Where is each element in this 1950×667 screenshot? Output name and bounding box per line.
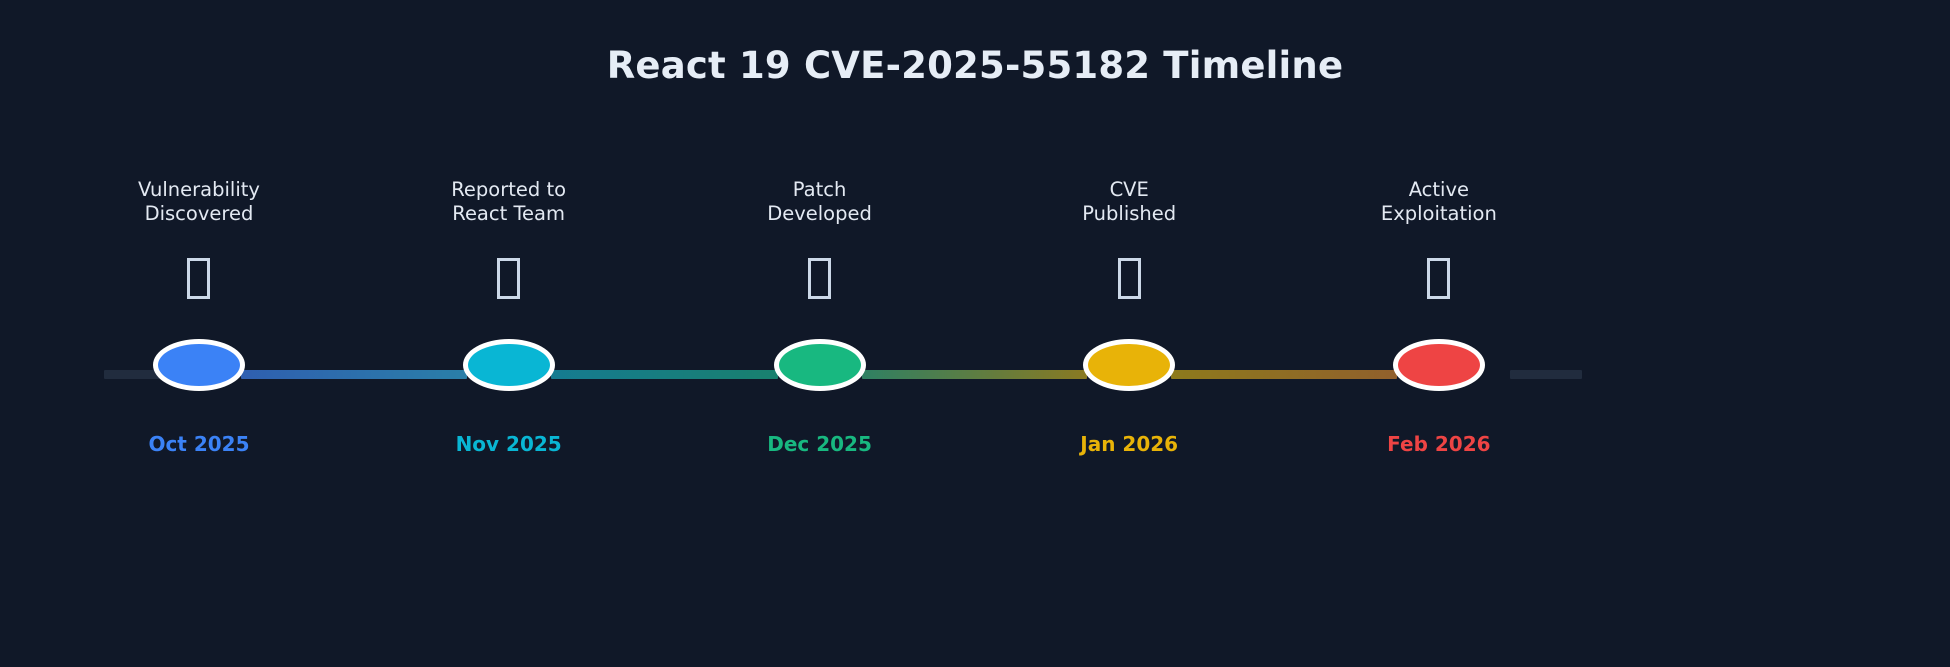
milestone-date: Nov 2025 bbox=[359, 432, 659, 456]
timeline-milestone[interactable]: CVE PublishedJan 2026 bbox=[979, 0, 1279, 667]
timeline-milestone[interactable]: Vulnerability DiscoveredOct 2025 bbox=[49, 0, 349, 667]
milestone-marker[interactable] bbox=[1393, 339, 1485, 391]
timeline-figure: React 19 CVE-2025-55182 Timeline Vulnera… bbox=[0, 0, 1950, 667]
missing-glyph-box-icon bbox=[1427, 258, 1450, 299]
missing-glyph-box-icon bbox=[808, 258, 831, 299]
milestone-missing-glyph-icon bbox=[670, 258, 970, 304]
milestone-date: Oct 2025 bbox=[49, 432, 349, 456]
milestone-missing-glyph-icon bbox=[359, 258, 659, 304]
milestone-label: Patch Developed bbox=[670, 178, 970, 226]
milestone-missing-glyph-icon bbox=[49, 258, 349, 304]
milestone-marker[interactable] bbox=[153, 339, 245, 391]
missing-glyph-box-icon bbox=[497, 258, 520, 299]
milestone-date: Jan 2026 bbox=[979, 432, 1279, 456]
missing-glyph-box-icon bbox=[187, 258, 210, 299]
milestone-label: Vulnerability Discovered bbox=[49, 178, 349, 226]
milestone-marker[interactable] bbox=[463, 339, 555, 391]
timeline-milestone[interactable]: Patch DevelopedDec 2025 bbox=[670, 0, 970, 667]
timeline-milestone[interactable]: Active ExploitationFeb 2026 bbox=[1289, 0, 1589, 667]
milestone-date: Dec 2025 bbox=[670, 432, 970, 456]
missing-glyph-box-icon bbox=[1118, 258, 1141, 299]
milestone-marker[interactable] bbox=[1083, 339, 1175, 391]
milestone-missing-glyph-icon bbox=[1289, 258, 1589, 304]
timeline-milestone[interactable]: Reported to React TeamNov 2025 bbox=[359, 0, 659, 667]
milestone-label: Active Exploitation bbox=[1289, 178, 1589, 226]
milestone-label: Reported to React Team bbox=[359, 178, 659, 226]
milestone-date: Feb 2026 bbox=[1289, 432, 1589, 456]
milestone-marker[interactable] bbox=[774, 339, 866, 391]
milestone-label: CVE Published bbox=[979, 178, 1279, 226]
milestone-missing-glyph-icon bbox=[979, 258, 1279, 304]
